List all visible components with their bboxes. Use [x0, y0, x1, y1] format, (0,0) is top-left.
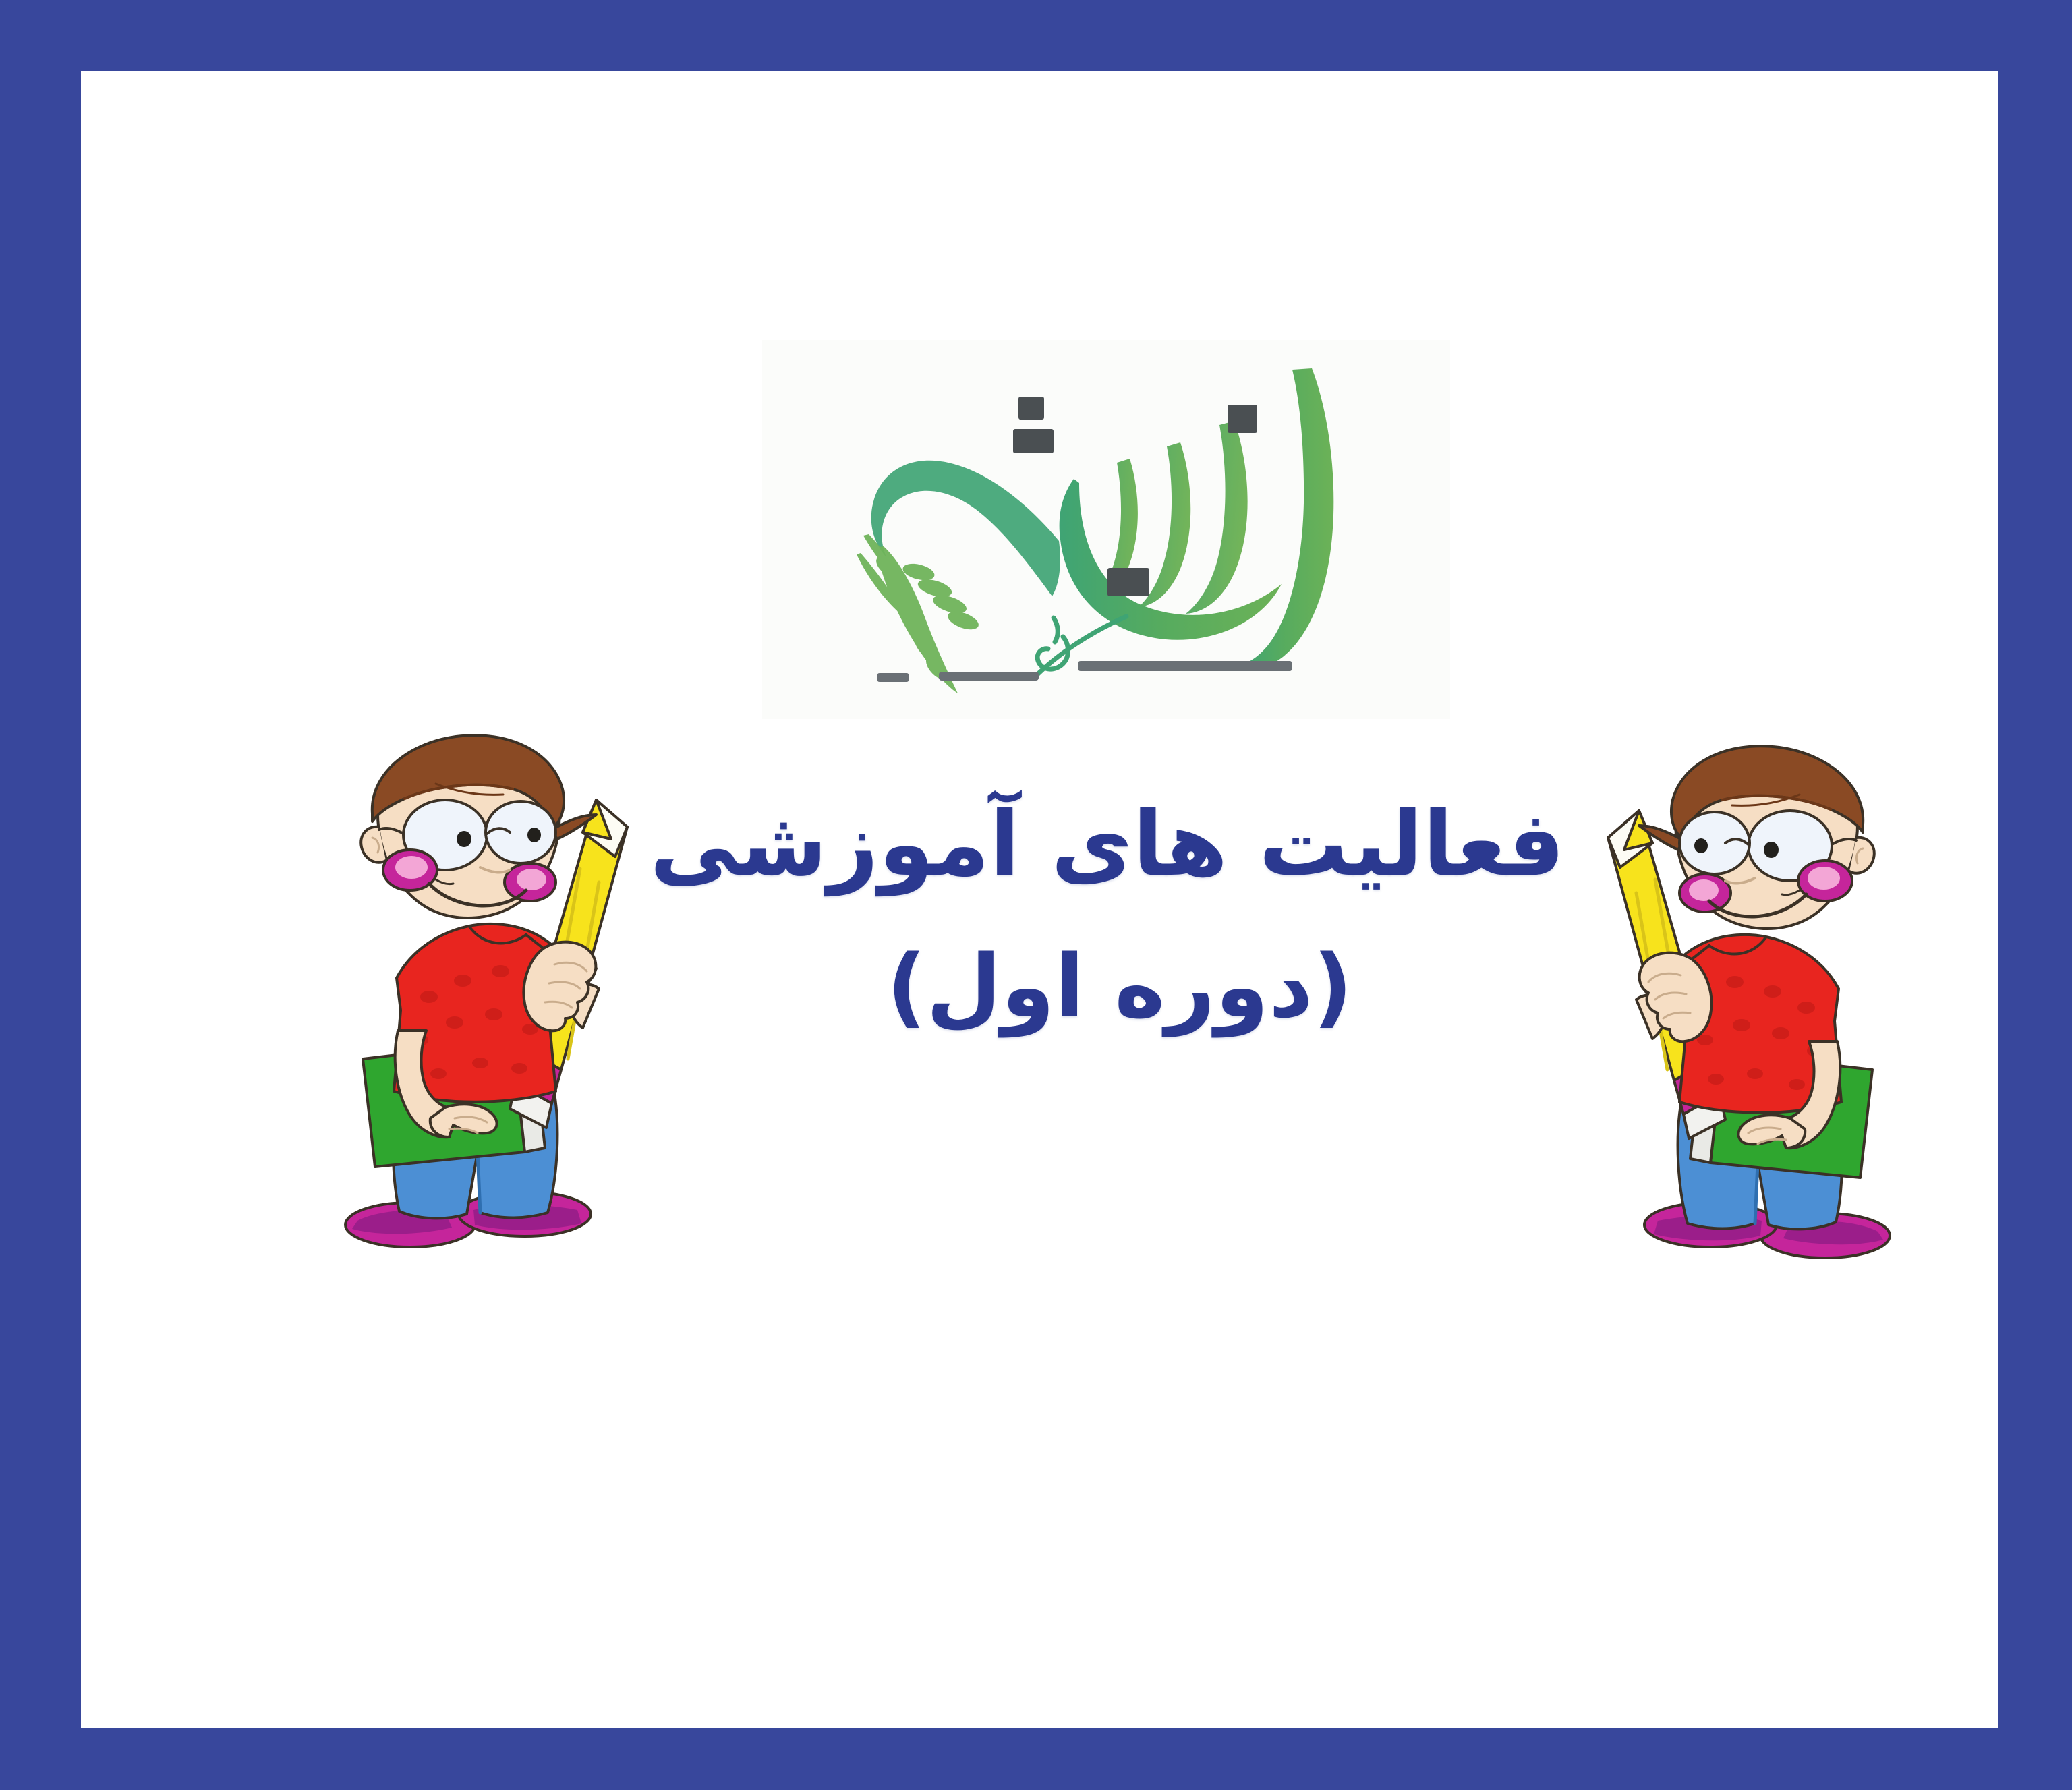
slide-title: فعالیت های آموزشی (دوره اول): [674, 773, 1565, 1057]
schoolboy-illustration-left: [310, 714, 668, 1273]
title-line-1: فعالیت های آموزشی: [674, 773, 1565, 917]
eye-right: [527, 828, 541, 842]
glasses-lens-right: [486, 801, 556, 863]
schoolboy-illustration-right: [1567, 724, 1925, 1284]
slide-canvas: فعالیت های آموزشی (دوره اول): [81, 71, 1998, 1728]
eye-left: [457, 831, 471, 847]
organization-logo: [762, 340, 1450, 719]
logo-artwork: [762, 340, 1450, 719]
title-line-2: (دوره اول): [674, 917, 1565, 1057]
slide-root: فعالیت های آموزشی (دوره اول): [0, 0, 2072, 1790]
schoolboy-artwork: [1567, 724, 1925, 1284]
schoolboy-artwork: [310, 714, 668, 1273]
